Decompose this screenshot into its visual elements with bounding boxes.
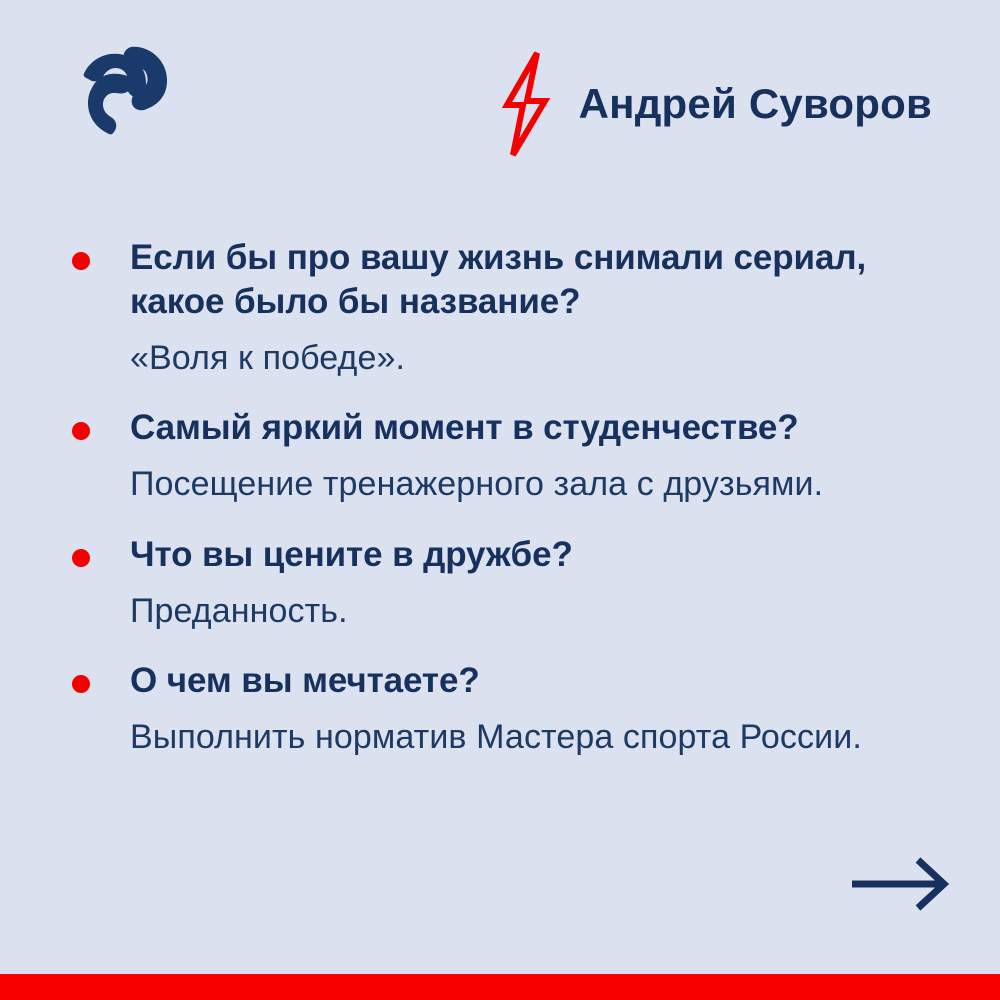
- bullet-dot-icon: [72, 675, 90, 693]
- bottom-red-bar: [0, 974, 1000, 1000]
- card-header: Андрей Суворов: [0, 0, 1000, 190]
- qa-item: О чем вы мечтаете? Выполнить норматив Ма…: [0, 659, 1000, 759]
- question-text: Что вы цените в дружбе?: [130, 533, 920, 577]
- qa-item: Самый яркий момент в студенчестве? Посещ…: [0, 406, 1000, 506]
- answer-text: «Воля к победе».: [130, 336, 920, 380]
- slide-card: Андрей Суворов Если бы про вашу жизнь сн…: [0, 0, 1000, 1000]
- trefoil-knot-logo: [72, 36, 180, 144]
- qa-list: Если бы про вашу жизнь снимали сериал, к…: [0, 236, 1000, 759]
- answer-text: Выполнить норматив Мастера спорта России…: [130, 715, 920, 759]
- answer-text: Посещение тренажерного зала с друзьями.: [130, 462, 920, 506]
- qa-item: Если бы про вашу жизнь снимали сериал, к…: [0, 236, 1000, 380]
- answer-text: Преданность.: [130, 589, 920, 633]
- qa-item: Что вы цените в дружбе? Преданность.: [0, 533, 1000, 633]
- bullet-dot-icon: [72, 422, 90, 440]
- bullet-dot-icon: [72, 252, 90, 270]
- question-text: О чем вы мечтаете?: [130, 659, 920, 703]
- bullet-dot-icon: [72, 549, 90, 567]
- arrow-right-icon[interactable]: [848, 856, 956, 912]
- question-text: Если бы про вашу жизнь снимали сериал, к…: [130, 236, 920, 324]
- author-name: Андрей Суворов: [579, 83, 932, 125]
- lightning-bolt-icon: [497, 49, 553, 159]
- question-text: Самый яркий момент в студенчестве?: [130, 406, 920, 450]
- author-block: Андрей Суворов: [497, 44, 932, 164]
